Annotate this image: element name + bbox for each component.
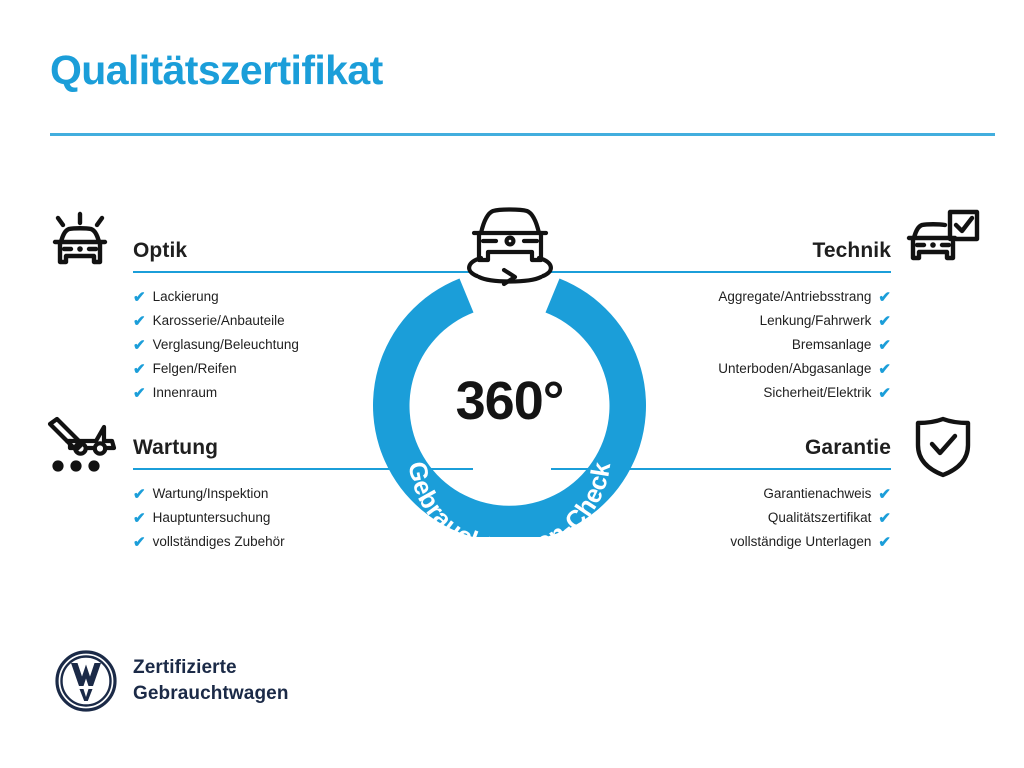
section-title: Optik xyxy=(133,239,187,263)
footer-line-1: Zertifizierte xyxy=(133,655,289,681)
page-title: Qualitätszertifikat xyxy=(50,48,383,93)
list-item-label: Lackierung xyxy=(153,289,219,305)
list-item-label: Hauptuntersuchung xyxy=(153,510,271,526)
wrench-car-service-icon xyxy=(44,415,120,480)
list-item-label: Wartung/Inspektion xyxy=(153,486,269,502)
footer-line-2: Gebrauchtwagen xyxy=(133,681,289,707)
list-item-label: Innenraum xyxy=(153,385,218,401)
list-item-label: Qualitätszertifikat xyxy=(768,510,872,526)
check-icon: ✔ xyxy=(133,338,146,353)
list-item-label: Garantienachweis xyxy=(763,486,871,502)
list-item-label: Karosserie/Anbauteile xyxy=(153,313,285,329)
list-item-label: Verglasung/Beleuchtung xyxy=(153,337,299,353)
section-title: Wartung xyxy=(133,436,218,460)
car-front-rotate-icon xyxy=(455,203,565,291)
certificate-page: Qualitätszertifikat xyxy=(0,0,1024,768)
check-icon: ✔ xyxy=(133,290,146,305)
volkswagen-logo xyxy=(55,650,117,717)
list-item-label: Sicherheit/Elektrik xyxy=(763,385,871,401)
check-icon: ✔ xyxy=(878,290,891,305)
check-icon: ✔ xyxy=(878,487,891,502)
check-icon: ✔ xyxy=(878,338,891,353)
list-item-label: vollständige Unterlagen xyxy=(730,534,871,550)
shield-check-icon xyxy=(913,415,973,484)
car-front-checkbox-icon xyxy=(905,208,981,273)
check-icon: ✔ xyxy=(878,314,891,329)
header-divider xyxy=(50,133,995,136)
badge-360-gebrauchtwagen-check: Gebrauchtwagen-Check 360° xyxy=(373,264,646,537)
check-icon: ✔ xyxy=(133,362,146,377)
check-icon: ✔ xyxy=(133,535,146,550)
footer-text: Zertifizierte Gebrauchtwagen xyxy=(133,655,289,706)
section-title: Technik xyxy=(813,239,892,263)
check-icon: ✔ xyxy=(878,535,891,550)
check-icon: ✔ xyxy=(133,314,146,329)
list-item-label: Unterboden/Abgasanlage xyxy=(718,361,871,377)
section-title: Garantie xyxy=(805,436,891,460)
list-item-label: Aggregate/Antriebsstrang xyxy=(718,289,871,305)
list-item-label: vollständiges Zubehör xyxy=(153,534,285,550)
check-icon: ✔ xyxy=(878,386,891,401)
check-icon: ✔ xyxy=(133,511,146,526)
check-icon: ✔ xyxy=(133,386,146,401)
check-icon: ✔ xyxy=(133,487,146,502)
check-icon: ✔ xyxy=(878,511,891,526)
list-item-label: Lenkung/Fahrwerk xyxy=(760,313,872,329)
check-icon: ✔ xyxy=(878,362,891,377)
list-item-label: Bremsanlage xyxy=(792,337,872,353)
list-item-label: Felgen/Reifen xyxy=(153,361,237,377)
car-front-shine-icon xyxy=(44,208,116,275)
